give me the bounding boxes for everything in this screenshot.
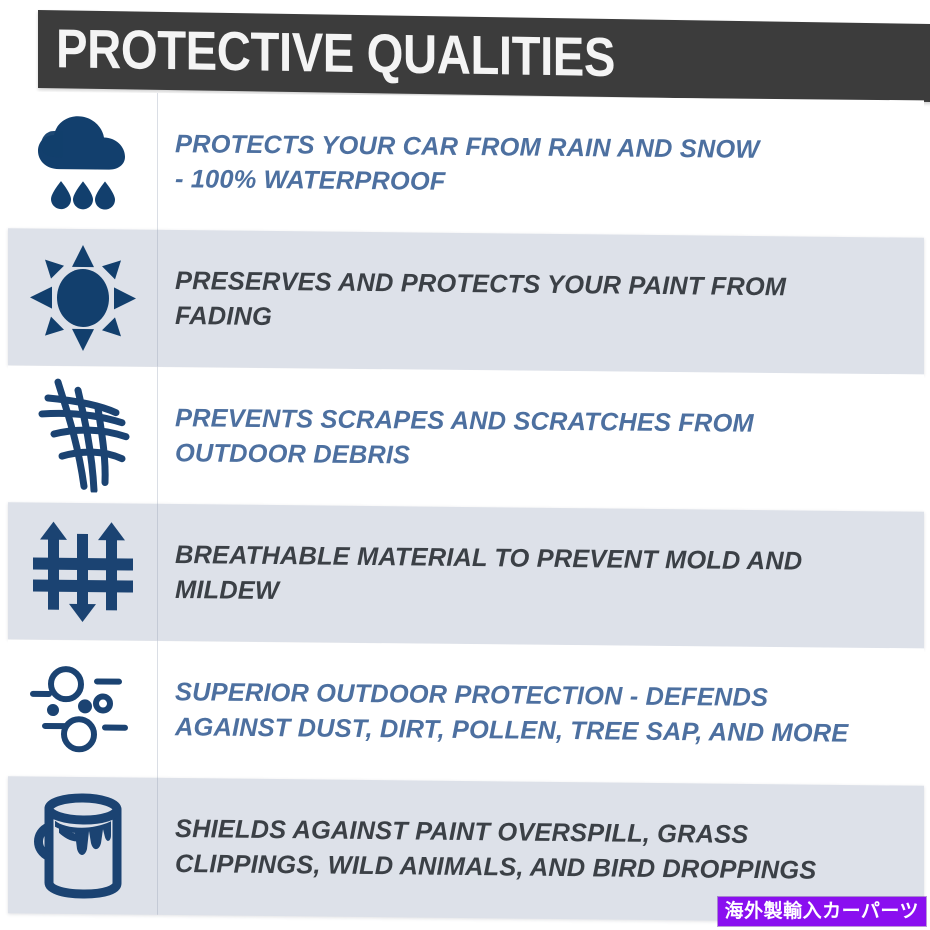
protective-qualities-infographic: PROTECTIVE QUALITIES PROTECTS YOUR CAR F… <box>0 0 930 930</box>
feature-row-list: PROTECTS YOUR CAR FROM RAIN AND SNOW - 1… <box>0 96 930 918</box>
feature-row-scratch-protection: PREVENTS SCRAPES AND SCRATCHES FROM OUTD… <box>8 366 924 512</box>
feature-text-cell: SUPERIOR OUTDOOR PROTECTION - DEFENDS AG… <box>157 675 924 752</box>
row-divider <box>157 93 158 230</box>
row-divider <box>157 367 158 504</box>
feature-text: BREATHABLE MATERIAL TO PREVENT MOLD AND … <box>175 537 904 615</box>
header-banner: PROTECTIVE QUALITIES <box>38 10 930 102</box>
watermark-text: 海外製輸入カーパーツ <box>725 900 919 922</box>
row-divider <box>157 641 158 778</box>
dust-particles-icon <box>8 640 157 778</box>
row-divider <box>157 504 158 641</box>
feature-row-breathable: BREATHABLE MATERIAL TO PREVENT MOLD AND … <box>8 502 924 649</box>
feature-text-cell: PREVENTS SCRAPES AND SCRATCHES FROM OUTD… <box>157 401 924 478</box>
feature-text: SHIELDS AGAINST PAINT OVERSPILL, GRASS C… <box>175 811 904 889</box>
paint-bucket-icon <box>8 776 157 915</box>
feature-text: PREVENTS SCRAPES AND SCRATCHES FROM OUTD… <box>175 401 904 478</box>
page-title: PROTECTIVE QUALITIES <box>56 16 615 89</box>
feature-text-cell: PRESERVES AND PROTECTS YOUR PAINT FROM F… <box>157 263 924 341</box>
feature-text-cell: BREATHABLE MATERIAL TO PREVENT MOLD AND … <box>157 537 924 615</box>
scratches-icon <box>8 366 157 504</box>
row-divider <box>157 778 158 915</box>
sun-icon <box>8 228 157 367</box>
feature-row-waterproof: PROTECTS YOUR CAR FROM RAIN AND SNOW - 1… <box>8 92 924 238</box>
watermark-badge: 海外製輸入カーパーツ <box>718 897 926 926</box>
feature-text-cell: SHIELDS AGAINST PAINT OVERSPILL, GRASS C… <box>157 811 924 889</box>
feature-text: PROTECTS YOUR CAR FROM RAIN AND SNOW - 1… <box>175 127 904 204</box>
feature-text: SUPERIOR OUTDOOR PROTECTION - DEFENDS AG… <box>175 675 904 752</box>
breathable-airflow-icon <box>8 502 157 641</box>
rain-cloud-icon <box>8 92 157 230</box>
feature-text-cell: PROTECTS YOUR CAR FROM RAIN AND SNOW - 1… <box>157 127 924 204</box>
feature-row-outdoor-protection: SUPERIOR OUTDOOR PROTECTION - DEFENDS AG… <box>8 640 924 786</box>
row-divider <box>157 230 158 367</box>
feature-text: PRESERVES AND PROTECTS YOUR PAINT FROM F… <box>175 263 904 341</box>
feature-row-fade-protection: PRESERVES AND PROTECTS YOUR PAINT FROM F… <box>8 228 924 375</box>
